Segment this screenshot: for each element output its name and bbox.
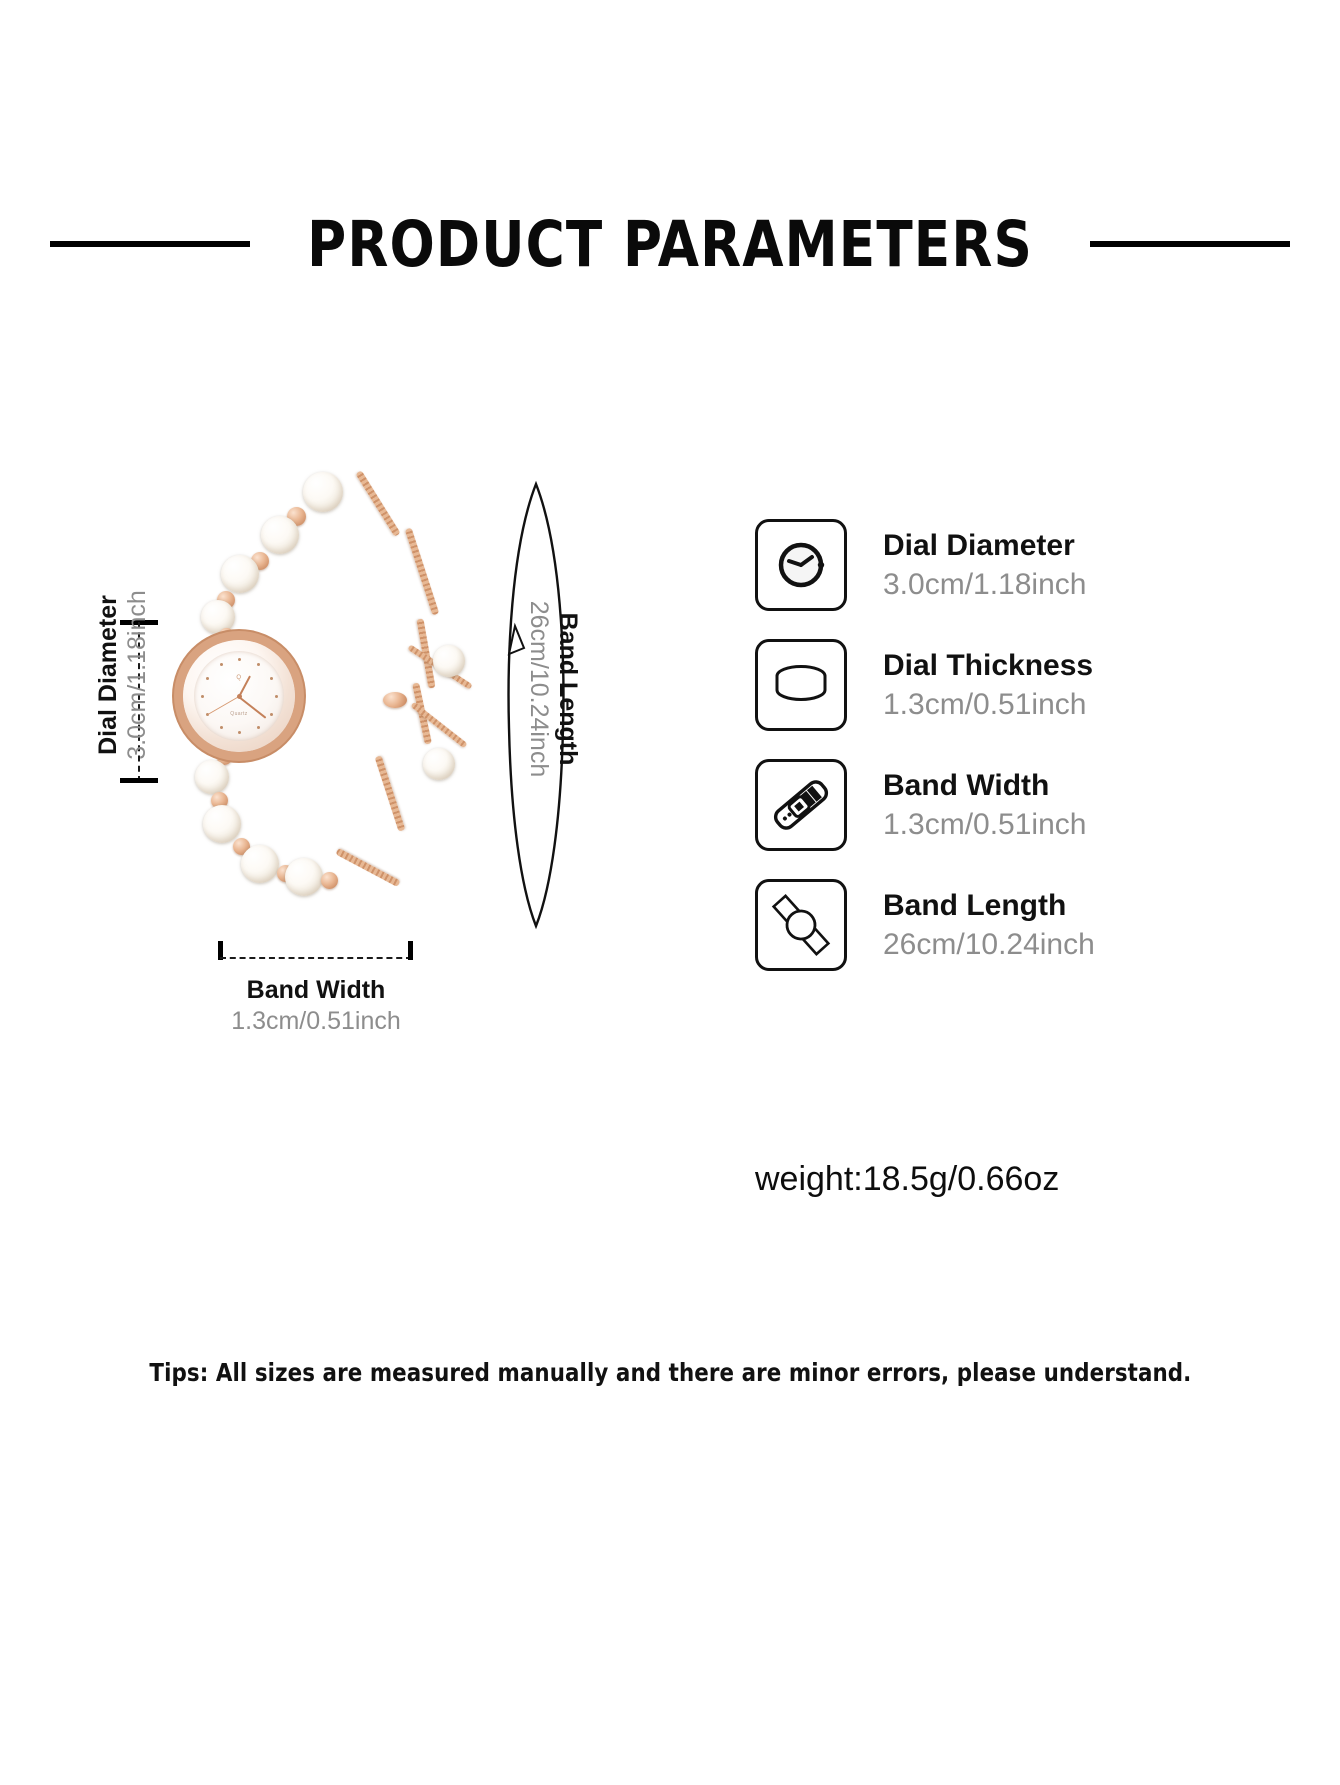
dial-index-dot: [257, 663, 260, 666]
spec-text-dial-thickness: Dial Thickness 1.3cm/0.51inch: [883, 646, 1093, 724]
watch-strap-buckle-icon: [755, 759, 847, 851]
pearl-bead: [285, 858, 323, 896]
spec-label: Band Width: [883, 766, 1086, 805]
dial-diameter-value: 3.0cm/1.18inch: [123, 590, 151, 760]
dial-index-dot: [238, 731, 241, 734]
dial-index-dot: [270, 713, 273, 716]
spec-row-band-width: Band Width 1.3cm/0.51inch: [755, 745, 1275, 865]
spec-text-band-width: Band Width 1.3cm/0.51inch: [883, 766, 1086, 844]
dial-index-dot: [201, 695, 204, 698]
chain-segment: [355, 470, 400, 536]
pearl-bead: [203, 805, 241, 843]
spec-row-dial-thickness: Dial Thickness 1.3cm/0.51inch: [755, 625, 1275, 745]
band-width-cap-right: [408, 941, 413, 960]
dial-index-dot: [257, 726, 260, 729]
pearl-bead: [303, 472, 343, 512]
spec-row-dial-diameter: Dial Diameter 3.0cm/1.18inch: [755, 505, 1275, 625]
pearl-bead: [221, 555, 259, 593]
dial-index-dot: [220, 663, 223, 666]
dial-index-dot: [206, 677, 209, 680]
pearl-tassel-bead: [423, 748, 455, 780]
weight-text: weight:18.5g/0.66oz: [755, 1160, 1059, 1199]
chain-segment: [405, 528, 439, 616]
dial-index-dot: [220, 726, 223, 729]
watch-brand-mark: Q: [236, 675, 241, 681]
title-rule-right: [1090, 241, 1290, 247]
watch-movement-text: Quartz: [230, 711, 247, 717]
spec-value: 26cm/10.24inch: [883, 925, 1095, 964]
page-title: PRODUCT PARAMETERS: [307, 208, 1033, 281]
band-width-label: Band Width: [210, 975, 422, 1006]
watch-band-length-icon: [755, 879, 847, 971]
pearl-bead: [195, 760, 229, 794]
chain-segment: [375, 755, 406, 831]
spec-text-band-length: Band Length 26cm/10.24inch: [883, 886, 1095, 964]
gold-bead: [321, 872, 338, 889]
spec-value: 3.0cm/1.18inch: [883, 565, 1086, 604]
band-length-label: Band Length: [554, 613, 582, 766]
tips-text: Tips: All sizes are measured manually an…: [149, 1358, 1191, 1387]
watch-dial: Q Quartz: [183, 640, 295, 752]
band-length-value: 26cm/10.24inch: [525, 601, 553, 778]
band-width-text: Band Width 1.3cm/0.51inch: [210, 975, 422, 1036]
page-title-block: PRODUCT PARAMETERS: [0, 196, 1340, 292]
chain-tassel: [410, 702, 467, 749]
tips-note: Tips: All sizes are measured manually an…: [0, 1358, 1340, 1387]
spec-label: Dial Diameter: [883, 526, 1086, 565]
title-rule-left: [50, 241, 250, 247]
pearl-bead: [241, 845, 279, 883]
spec-row-band-length: Band Length 26cm/10.24inch: [755, 865, 1275, 985]
dial-diameter-text: Dial Diameter 3.0cm/1.18inch: [94, 550, 152, 800]
spec-list: Dial Diameter 3.0cm/1.18inch Dial Thickn…: [755, 505, 1275, 985]
pearl-tassel-bead: [433, 645, 465, 677]
callout-band-length: Band Length 26cm/10.24inch: [485, 460, 685, 960]
spec-value: 1.3cm/0.51inch: [883, 685, 1093, 724]
dial-index-dot: [270, 677, 273, 680]
disc-thickness-icon: [755, 639, 847, 731]
band-width-value: 1.3cm/0.51inch: [210, 1006, 422, 1037]
product-illustration-area: Dial Diameter 3.0cm/1.18inch Q Quartz: [60, 440, 680, 1080]
watch-dial-face: Q Quartz: [194, 651, 284, 741]
callout-band-width: Band Width 1.3cm/0.51inch: [210, 945, 470, 1055]
band-length-text: Band Length 26cm/10.24inch: [524, 539, 582, 839]
slider-bead: [383, 692, 407, 708]
spec-text-dial-diameter: Dial Diameter 3.0cm/1.18inch: [883, 526, 1086, 604]
spec-value: 1.3cm/0.51inch: [883, 805, 1086, 844]
spec-label: Dial Thickness: [883, 646, 1093, 685]
pearl-bead: [261, 516, 299, 554]
spec-label: Band Length: [883, 886, 1095, 925]
watch-hand-pivot: [237, 694, 242, 699]
watch-clock-icon: [755, 519, 847, 611]
dial-index-dot: [238, 658, 241, 661]
dial-index-dot: [275, 695, 278, 698]
chain-segment: [335, 848, 400, 887]
dial-diameter-label: Dial Diameter: [94, 595, 122, 755]
band-width-dashed-line: [220, 957, 412, 959]
